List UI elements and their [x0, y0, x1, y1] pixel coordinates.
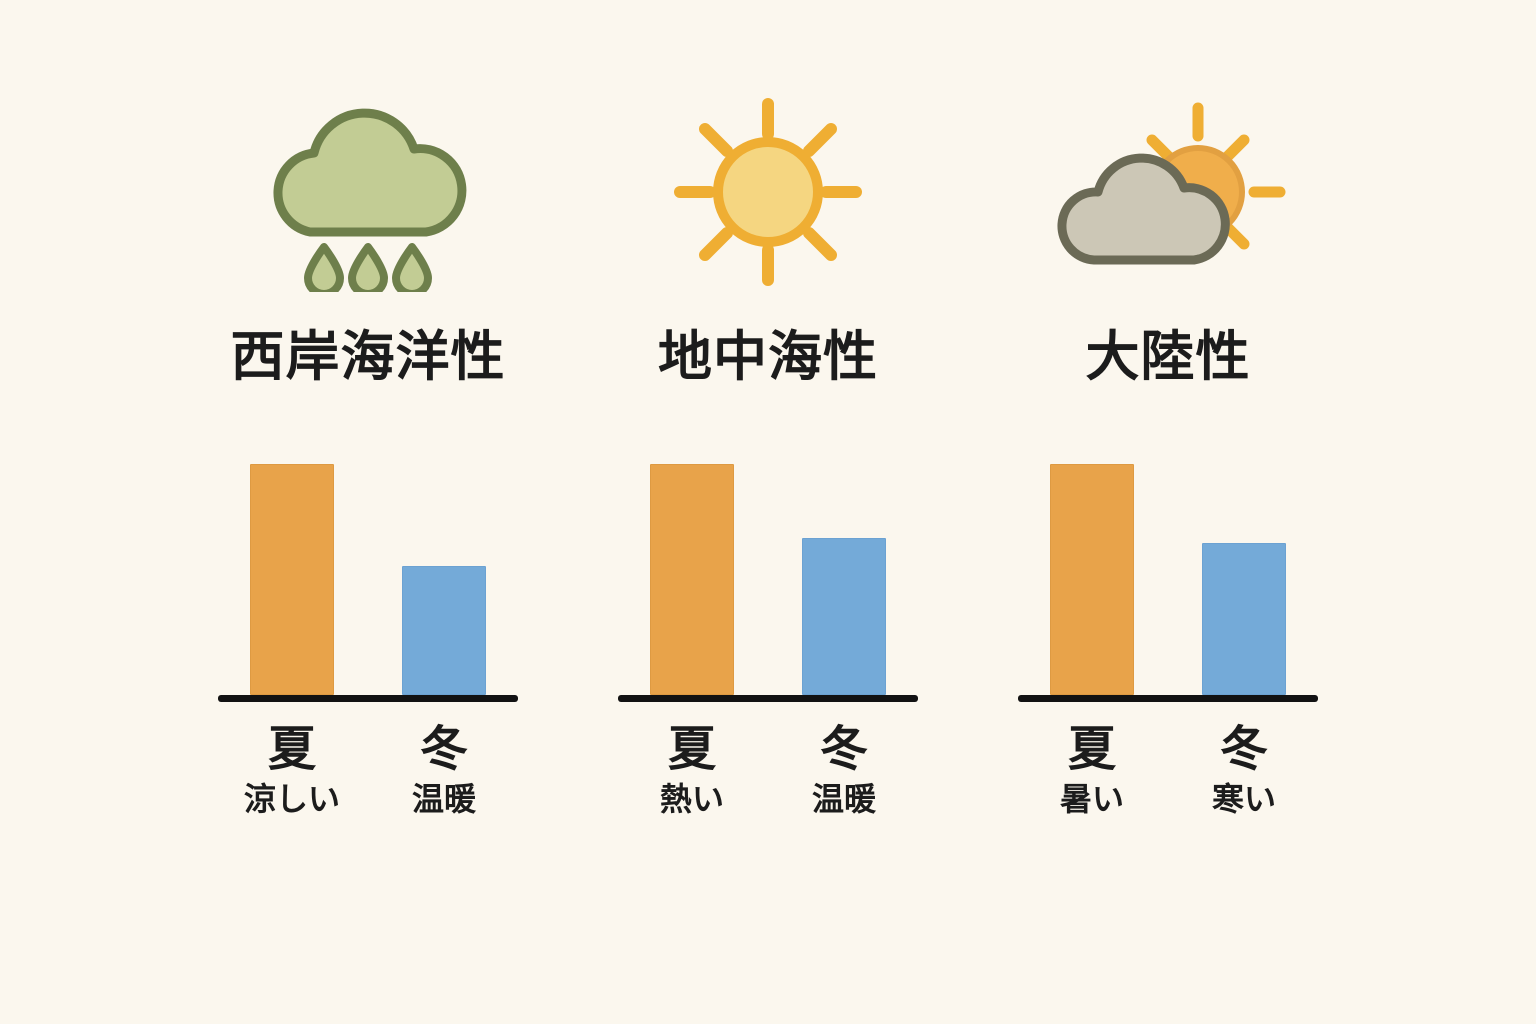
- season-labels-oceanic: 夏 涼しい 冬 温暖: [218, 724, 518, 818]
- season-desc-summer: 涼しい: [244, 782, 340, 817]
- sun-behind-cloud-icon: [1028, 72, 1308, 312]
- bar-summer-continental: [1050, 464, 1134, 695]
- chart-plot-area: [1018, 457, 1318, 695]
- season-column-winter: 冬 寒い: [1192, 724, 1296, 818]
- season-name-summer: 夏: [268, 724, 316, 774]
- season-name-winter: 冬: [820, 724, 868, 774]
- bar-winter-oceanic: [402, 566, 486, 695]
- sun-icon: [628, 72, 908, 312]
- climate-panel-continental: 大陸性 夏 暑い 冬 寒い: [968, 72, 1368, 818]
- season-name-summer: 夏: [668, 724, 716, 774]
- chart-baseline: [1018, 695, 1318, 702]
- season-name-winter: 冬: [420, 724, 468, 774]
- panel-title-mediterranean: 地中海性: [658, 312, 878, 402]
- chart-baseline: [618, 695, 918, 702]
- season-name-winter: 冬: [1220, 724, 1268, 774]
- bar-chart-oceanic: [218, 450, 518, 702]
- season-column-winter: 冬 温暖: [792, 724, 896, 818]
- season-desc-summer: 暑い: [1060, 782, 1124, 817]
- climate-panel-mediterranean: 地中海性 夏 熱い 冬 温暖: [568, 72, 968, 818]
- bar-chart-mediterranean: [618, 450, 918, 702]
- season-column-summer: 夏 熱い: [640, 724, 744, 818]
- climate-panel-oceanic: 西岸海洋性 夏 涼しい 冬 温暖: [168, 72, 568, 818]
- bar-summer-mediterranean: [650, 464, 734, 695]
- panel-title-continental: 大陸性: [1086, 312, 1251, 402]
- season-labels-continental: 夏 暑い 冬 寒い: [1018, 724, 1318, 818]
- bar-winter-mediterranean: [802, 538, 886, 695]
- season-desc-summer: 熱い: [660, 782, 724, 817]
- season-desc-winter: 温暖: [412, 782, 476, 817]
- season-column-summer: 夏 涼しい: [240, 724, 344, 818]
- climate-comparison-infographic: 西岸海洋性 夏 涼しい 冬 温暖: [0, 0, 1536, 1024]
- bar-winter-continental: [1202, 543, 1286, 695]
- chart-plot-area: [618, 457, 918, 695]
- season-desc-winter: 寒い: [1212, 782, 1276, 817]
- bar-summer-oceanic: [250, 464, 334, 695]
- bar-chart-continental: [1018, 450, 1318, 702]
- season-labels-mediterranean: 夏 熱い 冬 温暖: [618, 724, 918, 818]
- season-column-summer: 夏 暑い: [1040, 724, 1144, 818]
- chart-baseline: [218, 695, 518, 702]
- panel-title-oceanic: 西岸海洋性: [231, 312, 506, 402]
- rain-cloud-icon: [228, 72, 508, 312]
- chart-plot-area: [218, 457, 518, 695]
- season-column-winter: 冬 温暖: [392, 724, 496, 818]
- season-desc-winter: 温暖: [812, 782, 876, 817]
- season-name-summer: 夏: [1068, 724, 1116, 774]
